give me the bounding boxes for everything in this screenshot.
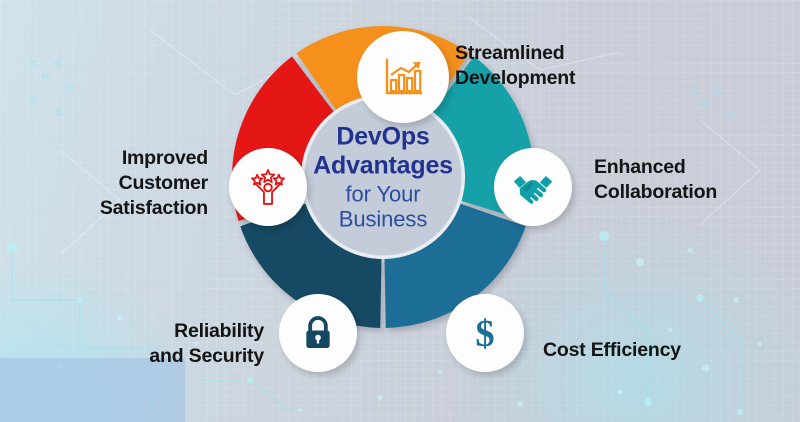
handshake-icon (511, 165, 555, 209)
icon-bubble-streamlined-development[interactable] (357, 31, 449, 123)
person-with-stars-icon (246, 165, 290, 209)
label-reliability-and-security: Reliability and Security (149, 319, 264, 369)
dollar-sign-icon: $ (463, 311, 507, 355)
infographic-canvas: DevOps Advantages for Your Business (0, 0, 800, 422)
svg-text:$: $ (475, 313, 494, 355)
icon-bubble-cost-efficiency[interactable]: $ (446, 294, 524, 372)
label-cost-efficiency: Cost Efficiency (543, 338, 681, 363)
icon-bubble-improved-customer-satisfaction[interactable] (229, 148, 307, 226)
label-improved-customer-satisfaction: Improved Customer Satisfaction (100, 146, 208, 220)
bar-chart-growth-icon (379, 53, 427, 101)
padlock-icon (298, 313, 338, 353)
label-streamlined-development: Streamlined Development (455, 41, 575, 91)
icon-bubble-enhanced-collaboration[interactable] (494, 148, 572, 226)
icon-bubble-reliability-and-security[interactable] (279, 294, 357, 372)
wheel-center-fill (305, 99, 462, 256)
label-enhanced-collaboration: Enhanced Collaboration (594, 155, 717, 205)
